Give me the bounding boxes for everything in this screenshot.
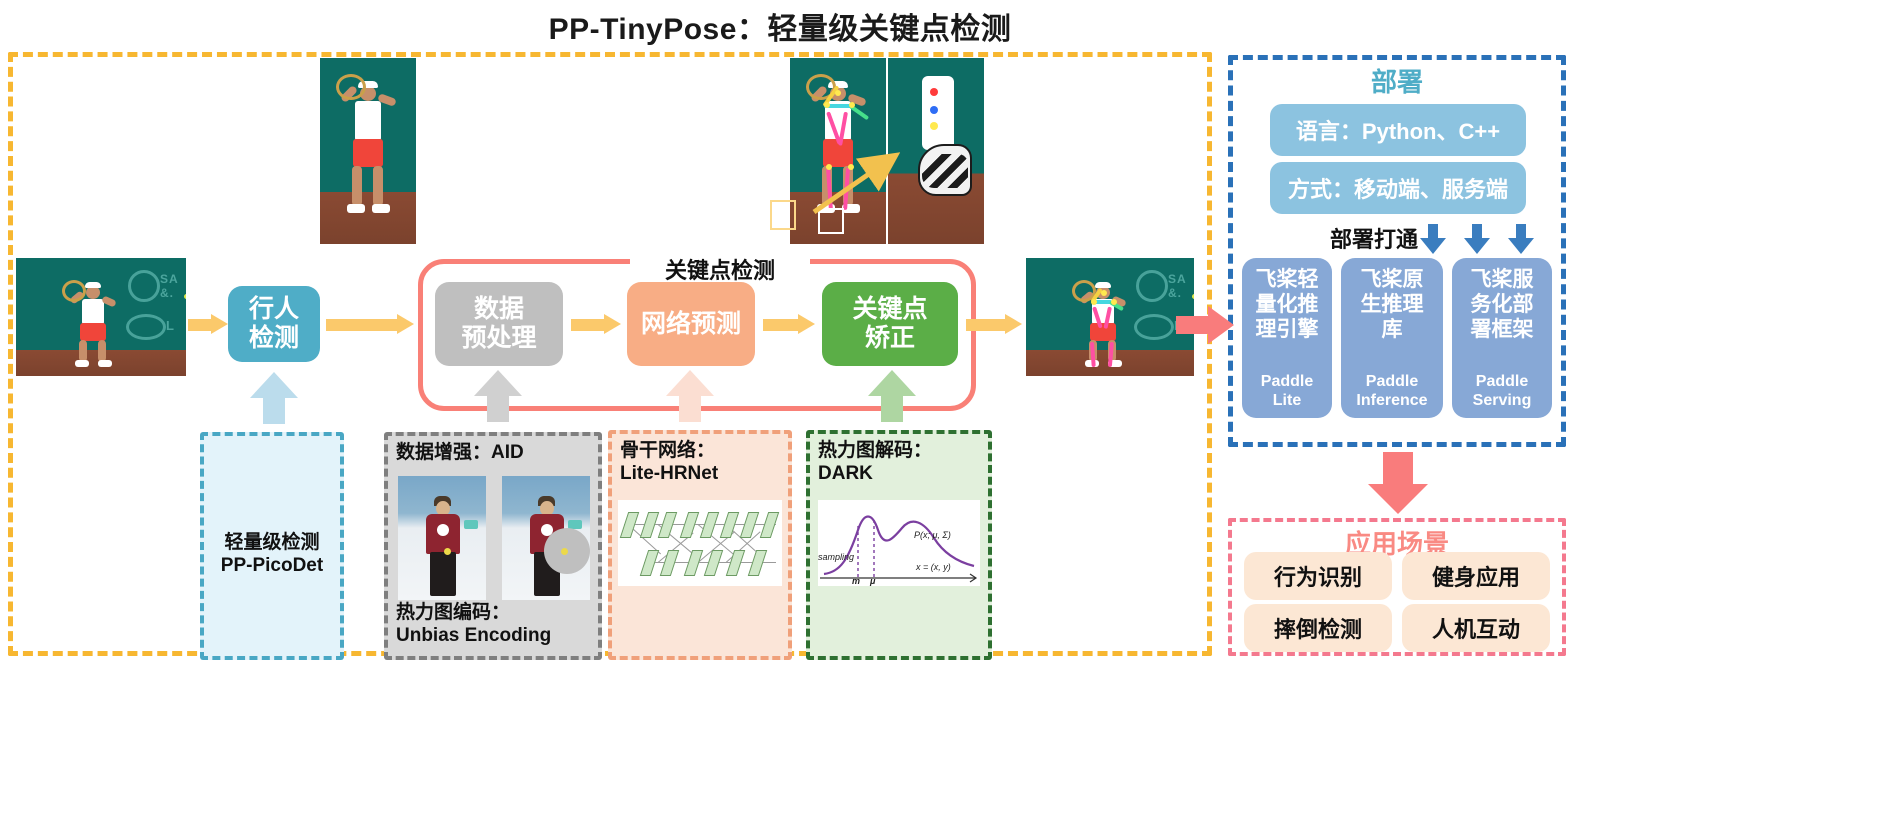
deploy-down-arrow-3 xyxy=(1508,224,1534,254)
keypoint-detection-title: 关键点检测 xyxy=(630,253,810,285)
backbone-detail-box: 骨干网络： Lite-HRNet xyxy=(608,430,792,660)
dark-formula: P(x; μ, Σ) xyxy=(914,530,951,540)
dc1-cn3: 理引擎 xyxy=(1256,318,1319,343)
preprocess-line1: 数据 xyxy=(461,295,536,324)
app-box-action-recognition[interactable]: 行为识别 xyxy=(1244,552,1392,600)
aid-detail-box: 数据增强：AID 热力图编码： Unbias Encoding xyxy=(384,432,602,660)
dark-line1: 热力图解码： xyxy=(818,440,932,463)
output-photo: SA &. L xyxy=(1026,258,1194,376)
flow-arrow-3 xyxy=(571,314,623,334)
network-prediction-box[interactable]: 网络预测 xyxy=(627,282,755,366)
dark-mu-label: μ xyxy=(870,576,875,586)
deploy-card-paddle-serving[interactable]: 飞桨服 务化部 署框架 Paddle Serving xyxy=(1452,258,1552,418)
person-detection-box[interactable]: 行人 检测 xyxy=(228,286,320,362)
deploy-card-paddle-inference[interactable]: 飞桨原 生推理 库 Paddle Inference xyxy=(1341,258,1443,418)
aid-title: 数据增强：AID xyxy=(396,442,524,465)
dark-m-label: m xyxy=(852,576,860,586)
zoom-pointer-arrow xyxy=(806,150,916,220)
dc1-cn1: 飞桨轻 xyxy=(1256,268,1319,293)
person-detection-line1: 行人 xyxy=(249,295,299,324)
deploy-mode-bar: 方式：移动端、服务端 xyxy=(1270,162,1526,214)
correction-line2: 矫正 xyxy=(852,324,927,353)
dc2-en2: Inference xyxy=(1341,392,1443,410)
dc3-en2: Serving xyxy=(1452,392,1552,410)
hrnet-diagram xyxy=(618,500,782,586)
to-deploy-arrow xyxy=(1176,306,1236,344)
flow-arrow-4 xyxy=(763,314,817,334)
deploy-through-label: 部署打通 xyxy=(1258,222,1418,254)
dark-detail-box: 热力图解码： DARK sampling m μ P(x; μ, Σ) x = … xyxy=(806,430,992,660)
correction-line1: 关键点 xyxy=(852,295,927,324)
crop-hint-box xyxy=(770,200,796,230)
dc3-cn3: 署框架 xyxy=(1471,318,1534,343)
keypoint-correction-box[interactable]: 关键点 矫正 xyxy=(822,282,958,366)
flow-arrow-5 xyxy=(966,314,1024,334)
network-prediction-label: 网络预测 xyxy=(641,310,741,339)
deploy-title: 部署 xyxy=(1228,62,1566,99)
dark-sampling-label: sampling xyxy=(818,552,854,562)
dc2-cn2: 生推理 xyxy=(1361,293,1424,318)
app-box-fall-detection[interactable]: 摔倒检测 xyxy=(1244,604,1392,652)
picodet-line1: 轻量级检测 xyxy=(204,532,340,555)
aid-sample-augmented xyxy=(502,476,590,600)
dark-line2: DARK xyxy=(818,463,932,486)
flow-arrow-1 xyxy=(188,314,228,334)
dc1-cn2: 量化推 xyxy=(1256,293,1319,318)
app-box-hci[interactable]: 人机互动 xyxy=(1402,604,1550,652)
up-arrow-picodet xyxy=(250,372,298,424)
dc2-cn3: 库 xyxy=(1361,318,1424,343)
dc2-cn1: 飞桨原 xyxy=(1361,268,1424,293)
app-box-fitness[interactable]: 健身应用 xyxy=(1402,552,1550,600)
input-photo: SA &. L xyxy=(16,258,186,376)
dark-curve-chart: sampling m μ P(x; μ, Σ) x = (x, y) xyxy=(818,500,980,586)
up-arrow-backbone xyxy=(666,370,714,422)
preprocess-line2: 预处理 xyxy=(461,324,536,353)
diagram-canvas: PP-TinyPose：轻量级关键点检测 SA &. L xyxy=(0,0,1900,820)
unbias-line2: Unbias Encoding xyxy=(396,625,551,648)
person-detection-line2: 检测 xyxy=(249,324,299,353)
cropped-person-photo xyxy=(320,58,416,244)
picodet-line2: PP-PicoDet xyxy=(204,555,340,578)
dc2-en1: Paddle xyxy=(1341,373,1443,391)
to-applications-arrow xyxy=(1368,452,1428,516)
picodet-detail-box: 轻量级检测 PP-PicoDet xyxy=(200,432,344,660)
dark-xlabel: x = (x, y) xyxy=(916,562,951,572)
backbone-line2: Lite-HRNet xyxy=(620,463,718,486)
deploy-card-paddle-lite[interactable]: 飞桨轻 量化推 理引擎 Paddle Lite xyxy=(1242,258,1332,418)
up-arrow-dark xyxy=(868,370,916,422)
up-arrow-aid xyxy=(474,370,522,422)
dc1-en2: Lite xyxy=(1242,392,1332,410)
dc3-cn1: 飞桨服 xyxy=(1471,268,1534,293)
deploy-down-arrow-2 xyxy=(1464,224,1490,254)
page-title: PP-TinyPose：轻量级关键点检测 xyxy=(0,4,1560,48)
dc1-en1: Paddle xyxy=(1242,373,1332,391)
deploy-down-arrow-1 xyxy=(1420,224,1446,254)
data-preprocess-box[interactable]: 数据 预处理 xyxy=(435,282,563,366)
flow-arrow-2 xyxy=(326,314,416,334)
dc3-en1: Paddle xyxy=(1452,373,1552,391)
dc3-cn2: 务化部 xyxy=(1471,293,1534,318)
aid-sample-original xyxy=(398,476,486,600)
unbias-line1: 热力图编码： xyxy=(396,602,551,625)
backbone-line1: 骨干网络： xyxy=(620,440,718,463)
deploy-language-bar: 语言：Python、C++ xyxy=(1270,104,1526,156)
